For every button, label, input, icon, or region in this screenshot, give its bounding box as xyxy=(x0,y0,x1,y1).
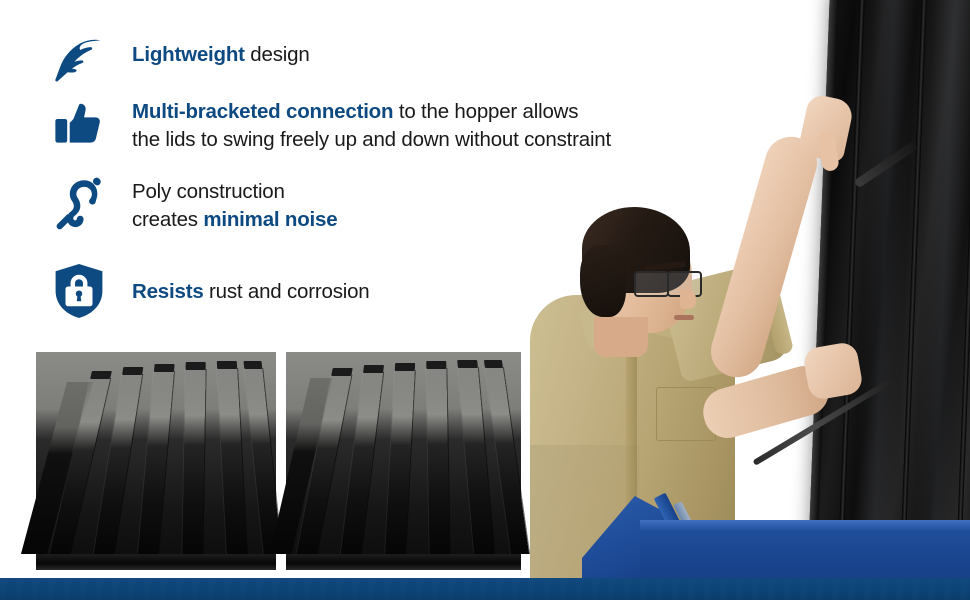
hopper-lid-raised xyxy=(809,0,970,541)
poly-lid-panel-right xyxy=(286,352,521,570)
feature-line2-prefix: creates xyxy=(132,208,203,231)
shield-lock-icon xyxy=(48,256,110,326)
worker-raised-arm xyxy=(705,131,823,384)
feature-line1: Poly construction xyxy=(132,180,285,203)
ear-hearing-icon xyxy=(48,170,110,236)
scene-photo-worker-hopper xyxy=(520,0,970,600)
poly-lid-panel-left xyxy=(36,352,276,570)
feature-emphasis: minimal noise xyxy=(203,208,337,231)
bottom-brand-bar xyxy=(0,578,970,600)
feature-emphasis: Resists xyxy=(132,280,204,303)
feather-icon xyxy=(48,32,110,88)
promo-banner: Lightweight design Multi-bracketed conne… xyxy=(0,0,970,600)
feature-rest: rust and corrosion xyxy=(204,280,370,303)
feature-emphasis: Lightweight xyxy=(132,43,245,66)
feature-item-lightweight: Lightweight design xyxy=(48,32,310,88)
product-photo-poly-lids xyxy=(28,352,538,582)
feature-emphasis: Multi-bracketed connection xyxy=(132,100,393,123)
feature-text-lightweight: Lightweight design xyxy=(132,41,310,69)
feature-item-minimal-noise: Poly construction creates minimal noise xyxy=(48,170,337,236)
feature-text-resists-rust: Resists rust and corrosion xyxy=(132,278,370,306)
feature-item-resists-rust: Resists rust and corrosion xyxy=(48,256,370,326)
feature-text-minimal-noise: Poly construction creates minimal noise xyxy=(132,178,337,234)
thumbs-up-icon xyxy=(48,94,110,154)
feature-rest: design xyxy=(245,43,310,66)
